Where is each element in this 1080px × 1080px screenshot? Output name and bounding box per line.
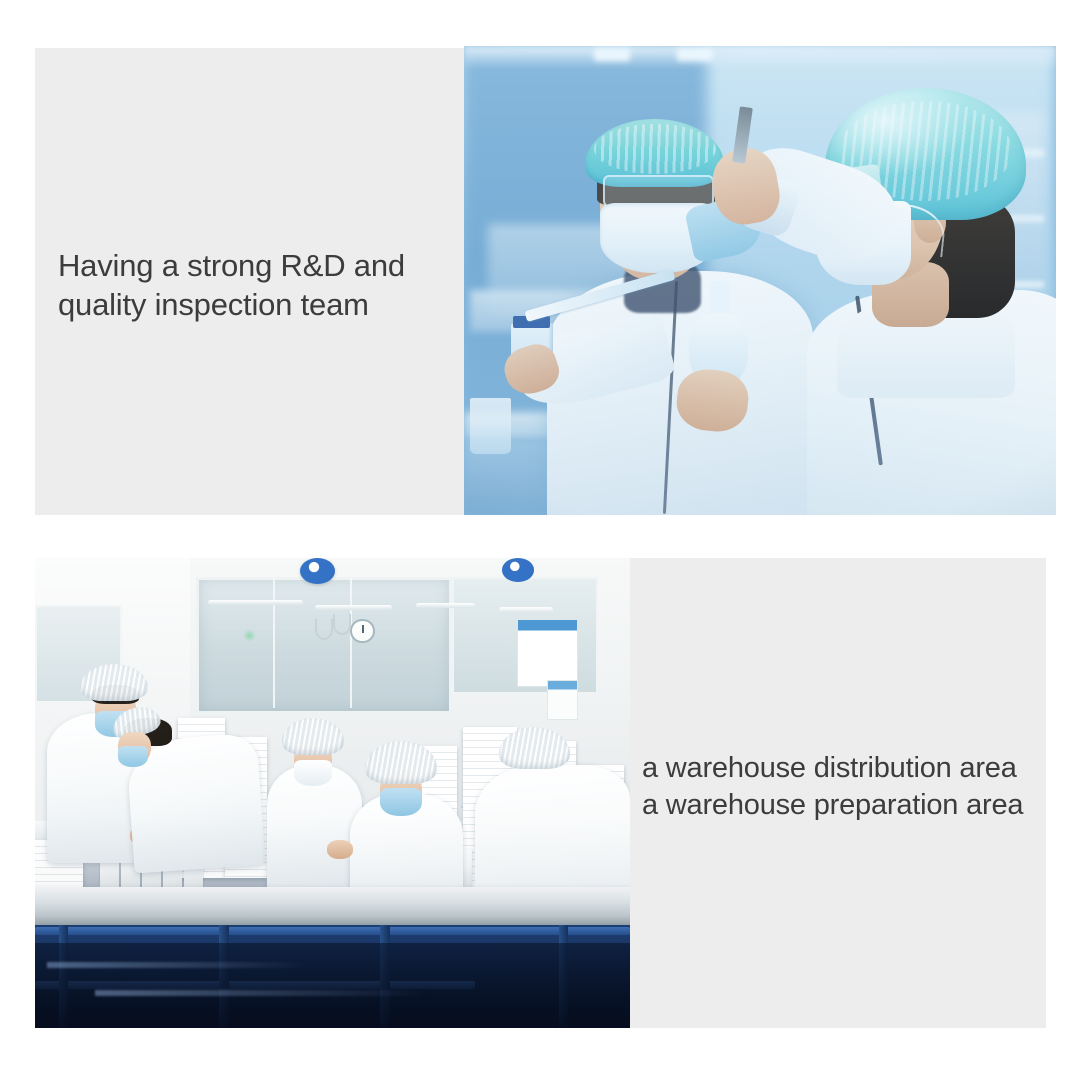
lab-vignette <box>464 46 1056 515</box>
showcase-page: Having a strong R&D and quality inspecti… <box>0 0 1080 1080</box>
row-1-caption-text: Having a strong R&D and quality inspecti… <box>58 246 458 324</box>
lab-inspection-photo <box>464 46 1056 515</box>
packing-room-haze <box>35 558 630 1028</box>
warehouse-packing-photo <box>35 558 630 1028</box>
row-2-caption-text: a warehouse distribution area a warehous… <box>642 750 1052 824</box>
row-2-caption-panel: a warehouse distribution area a warehous… <box>630 558 1046 1028</box>
packing-room-scene <box>35 558 630 1028</box>
row-2: a warehouse distribution area a warehous… <box>35 558 1046 1028</box>
lab-scene <box>464 46 1056 515</box>
row-1: Having a strong R&D and quality inspecti… <box>35 46 1056 515</box>
row-1-caption-panel: Having a strong R&D and quality inspecti… <box>35 48 464 515</box>
